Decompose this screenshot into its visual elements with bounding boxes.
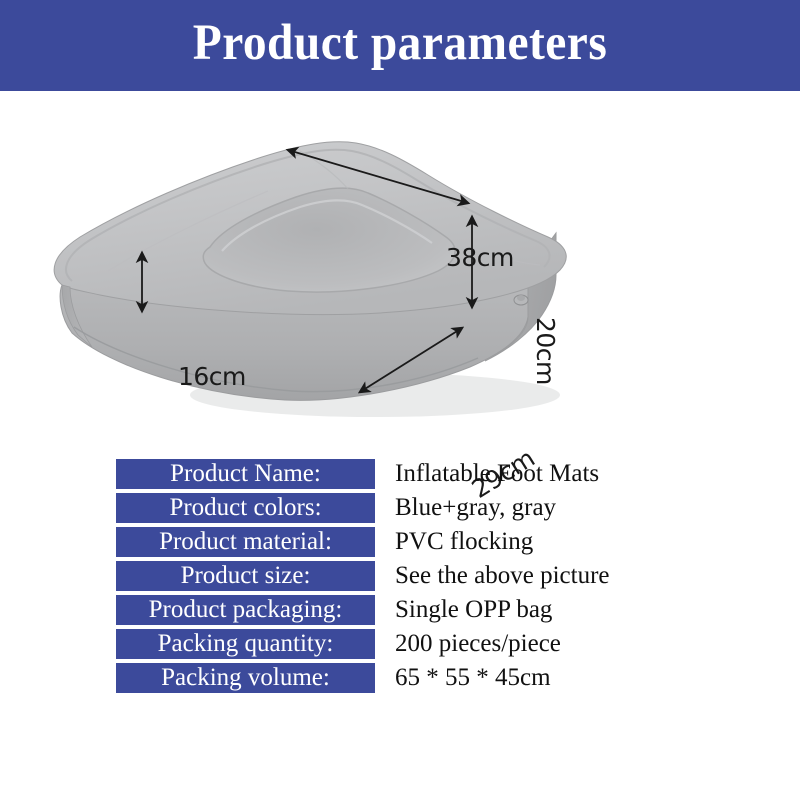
spec-label-product-size: Product size: bbox=[116, 561, 375, 591]
table-row: Product material: PVC flocking bbox=[116, 527, 716, 557]
table-row: Product colors: Blue+gray, gray bbox=[116, 493, 716, 523]
table-row: Product packaging: Single OPP bag bbox=[116, 595, 716, 625]
header-banner: Product parameters bbox=[0, 0, 800, 91]
spec-label-product-colors: Product colors: bbox=[116, 493, 375, 523]
spec-value-product-size: See the above picture bbox=[375, 561, 716, 591]
spec-value-product-material: PVC flocking bbox=[375, 527, 716, 557]
spec-value-product-colors: Blue+gray, gray bbox=[375, 493, 716, 523]
spec-label-packing-volume: Packing volume: bbox=[116, 663, 375, 693]
spec-value-packing-volume: 65 * 55 * 45cm bbox=[375, 663, 716, 693]
spec-value-product-packaging: Single OPP bag bbox=[375, 595, 716, 625]
product-illustration: 38cm 16cm 20cm 29cm bbox=[0, 95, 800, 435]
table-row: Packing volume: 65 * 55 * 45cm bbox=[116, 663, 716, 693]
dimension-side-label: 20cm bbox=[531, 317, 560, 385]
spec-label-packing-quantity: Packing quantity: bbox=[116, 629, 375, 659]
table-row: Packing quantity: 200 pieces/piece bbox=[116, 629, 716, 659]
foot-mat-drawing bbox=[0, 95, 800, 435]
valve-icon bbox=[514, 295, 528, 305]
product-parameters-table: Product Name: Inflatable Foot Mats Produ… bbox=[116, 459, 716, 697]
table-row: Product Name: Inflatable Foot Mats bbox=[116, 459, 716, 489]
table-row: Product size: See the above picture bbox=[116, 561, 716, 591]
dimension-width-label: 38cm bbox=[446, 243, 514, 272]
spec-label-product-material: Product material: bbox=[116, 527, 375, 557]
dimension-height-label: 16cm bbox=[178, 362, 246, 391]
spec-label-product-packaging: Product packaging: bbox=[116, 595, 375, 625]
spec-label-product-name: Product Name: bbox=[116, 459, 375, 489]
page-title: Product parameters bbox=[28, 0, 772, 91]
spec-value-product-name: Inflatable Foot Mats bbox=[375, 459, 716, 489]
spec-value-packing-quantity: 200 pieces/piece bbox=[375, 629, 716, 659]
